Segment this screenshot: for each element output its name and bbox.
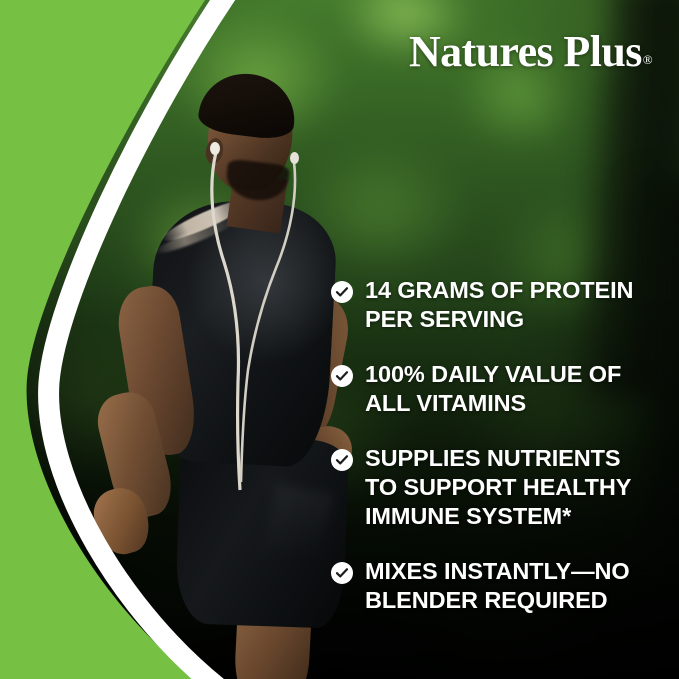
list-item: SUPPLIES NUTRIENTS TO SUPPORT HEALTHY IM… [331, 444, 651, 531]
benefit-text: 100% DAILY VALUE OF ALL VITAMINS [365, 360, 621, 418]
runner-figure [40, 0, 370, 679]
product-hero-banner: Natures Plus® 14 GRAMS OF PROTEIN PER SE… [0, 0, 679, 679]
check-circle-icon [331, 365, 353, 387]
list-item: 100% DAILY VALUE OF ALL VITAMINS [331, 360, 651, 418]
earbud-cord [40, 0, 370, 679]
runner-photo [40, 0, 370, 679]
earbud-right [290, 152, 299, 164]
earbud-left [210, 142, 220, 155]
benefits-list: 14 GRAMS OF PROTEIN PER SERVING 100% DAI… [331, 276, 651, 615]
benefit-text: MIXES INSTANTLY—NO BLENDER REQUIRED [365, 557, 630, 615]
check-circle-icon [331, 562, 353, 584]
brand-logo: Natures Plus® [409, 30, 651, 74]
benefit-text: 14 GRAMS OF PROTEIN PER SERVING [365, 276, 633, 334]
benefit-text: SUPPLIES NUTRIENTS TO SUPPORT HEALTHY IM… [365, 444, 631, 531]
check-circle-icon [331, 281, 353, 303]
check-circle-icon [331, 449, 353, 471]
brand-logo-text: Natures Plus [409, 27, 642, 76]
list-item: MIXES INSTANTLY—NO BLENDER REQUIRED [331, 557, 651, 615]
list-item: 14 GRAMS OF PROTEIN PER SERVING [331, 276, 651, 334]
registered-trademark-icon: ® [643, 52, 652, 67]
